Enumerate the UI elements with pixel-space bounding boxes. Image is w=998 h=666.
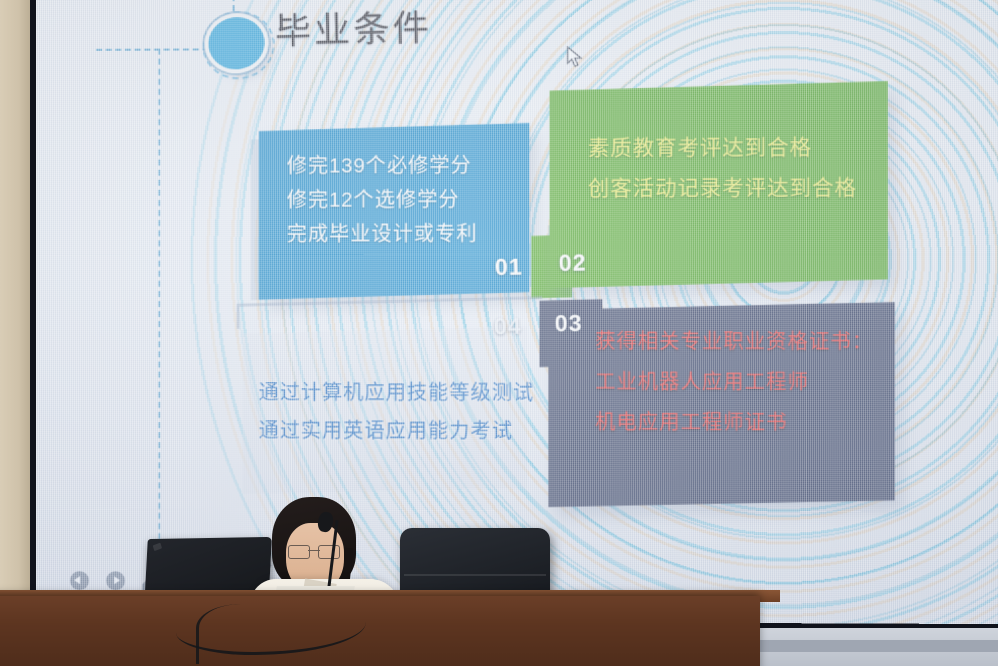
dashed-connector-vertical bbox=[158, 49, 160, 570]
block-03-line-1: 获得相关专业职业资格证书： bbox=[595, 322, 895, 363]
prev-slide-button[interactable] bbox=[70, 571, 89, 590]
dashed-connector-top bbox=[232, 0, 234, 11]
block-04-number: 04 bbox=[493, 313, 522, 341]
block-01-line-2: 修完12个选修学分 bbox=[287, 183, 529, 218]
office-chair-seam bbox=[404, 574, 546, 576]
photo-of-projected-slide: 毕业条件 修完139个必修学分 修完12个选修学分 完成毕业设计或专利 素质教育… bbox=[0, 0, 998, 666]
block-02-line-2: 创客活动记录考评达到合格 bbox=[588, 168, 888, 209]
room-floor-baseboard bbox=[760, 640, 998, 652]
block-02-line-1: 素质教育考评达到合格 bbox=[588, 128, 888, 169]
block-02-number: 02 bbox=[558, 249, 587, 277]
block-03: 获得相关专业职业资格证书： 工业机器人应用工程师 机电应用工程师证书 bbox=[548, 302, 894, 507]
block-04-line-2: 通过实用英语应用能力考试 bbox=[259, 412, 528, 451]
block-04: 通过计算机应用技能等级测试 通过实用英语应用能力考试 bbox=[243, 327, 528, 494]
block-04-line-1: 通过计算机应用技能等级测试 bbox=[259, 374, 528, 412]
podium bbox=[0, 596, 760, 666]
block-03-line-2: 工业机器人应用工程师 bbox=[595, 362, 895, 403]
block-03-number: 03 bbox=[554, 310, 583, 338]
desk-cable-secondary bbox=[196, 604, 309, 664]
block-01: 修完139个必修学分 修完12个选修学分 完成毕业设计或专利 bbox=[259, 123, 530, 300]
dashed-connector-left bbox=[96, 48, 208, 50]
slide-title: 毕业条件 bbox=[274, 0, 432, 55]
block-02: 素质教育考评达到合格 创客活动记录考评达到合格 bbox=[549, 81, 887, 288]
block-01-line-1: 修完139个必修学分 bbox=[287, 149, 529, 184]
next-slide-button[interactable] bbox=[106, 571, 125, 590]
room-wall-left bbox=[0, 0, 34, 666]
block-03-line-3: 机电应用工程师证书 bbox=[595, 403, 895, 444]
block-01-line-3: 完成毕业设计或专利 bbox=[287, 217, 529, 251]
block-01-number: 01 bbox=[494, 253, 523, 281]
